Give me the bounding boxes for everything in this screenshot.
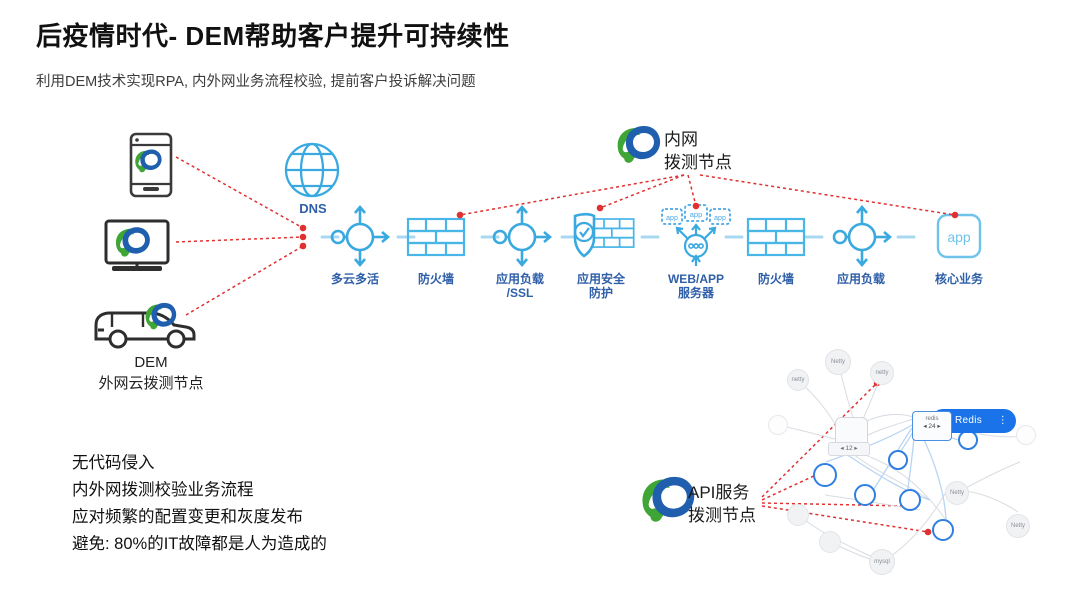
service-map-node[interactable]	[819, 531, 841, 553]
benefits-list: 无代码侵入 内外网拨测校验业务流程 应对频繁的配置变更和灰度发布 避免: 80%…	[72, 450, 327, 558]
api-probe-logo-icon	[642, 477, 694, 522]
car-icon	[96, 313, 194, 347]
chain-label-6: 应用负载	[806, 272, 916, 286]
service-map-node[interactable]: Netty	[825, 349, 851, 375]
slide-canvas: 后疫情时代- DEM帮助客户提升可持续性 利用DEM技术实现RPA, 内外网业务…	[0, 0, 1080, 601]
service-map-node-label: mysql	[870, 559, 894, 565]
firewall-brick-icon-1	[408, 219, 464, 255]
service-map-node[interactable]: Netty	[1006, 514, 1030, 538]
internal-probe-logo-icon	[618, 126, 660, 163]
svg-text:app: app	[666, 215, 678, 222]
service-map-node-label: Netty	[826, 359, 850, 365]
svg-text:app: app	[714, 215, 726, 222]
benefit-item-2: 应对频繁的配置变更和灰度发布	[72, 504, 327, 531]
dns-label: DNS	[268, 201, 358, 216]
load-balancer-icon-2	[834, 207, 890, 265]
redis-node-badge[interactable]: redis ◂ 24 ▸	[912, 411, 952, 441]
app-box-icon: app	[938, 215, 980, 257]
service-map-node[interactable]	[958, 430, 978, 450]
service-map-node[interactable]: netty	[787, 369, 809, 391]
service-topology-map[interactable]: NettynettynettyNettyNettymysql ◂ 12 ▸ Re…	[760, 330, 1080, 601]
chain-label-3: 应用安全 防护	[546, 272, 656, 300]
chain-label-7: 核心业务	[904, 272, 1014, 286]
redis-pill-label: Redis	[955, 415, 982, 426]
benefit-item-1: 内外网拨测校验业务流程	[72, 477, 327, 504]
redis-badge-name: redis	[913, 415, 951, 423]
dem-to-cloud-arrows	[176, 157, 303, 315]
service-map-node-label: Netty	[1007, 523, 1029, 529]
service-map-node[interactable]	[854, 484, 876, 506]
service-map-node[interactable]	[888, 450, 908, 470]
redis-badge-count: ◂ 24 ▸	[923, 423, 940, 430]
service-map-node[interactable]: netty	[870, 361, 894, 385]
benefit-item-0: 无代码侵入	[72, 450, 327, 477]
service-map-group-count[interactable]: ◂ 12 ▸	[828, 442, 870, 456]
service-map-node[interactable]: mysql	[869, 549, 895, 575]
service-map-node[interactable]	[932, 519, 954, 541]
svg-text:app: app	[947, 229, 971, 245]
internal-probe-label: 内网 拨测节点	[664, 128, 732, 174]
service-map-node-label: netty	[788, 377, 808, 383]
globe-icon	[286, 144, 338, 196]
kebab-menu-icon[interactable]: ⋮	[998, 409, 1008, 433]
service-map-node[interactable]	[899, 489, 921, 511]
service-map-node[interactable]	[768, 415, 788, 435]
firewall-brick-icon-2	[748, 219, 804, 255]
api-probe-label: API服务 拨测节点	[688, 481, 756, 527]
app-security-shield-icon	[575, 214, 634, 256]
dem-caption: DEM 外网云拨测节点	[61, 352, 241, 394]
svg-text:app: app	[690, 210, 703, 219]
service-map-node-label: netty	[871, 370, 893, 376]
service-map-node[interactable]	[787, 504, 809, 526]
benefit-item-3: 避免: 80%的IT故障都是人为造成的	[72, 531, 327, 558]
load-balancer-icon-1	[494, 207, 550, 265]
service-map-node[interactable]	[813, 463, 837, 487]
service-map-node[interactable]	[1016, 425, 1036, 445]
web-app-server-icon: app app app	[662, 205, 730, 266]
service-map-node-label: Netty	[946, 490, 968, 496]
service-map-node[interactable]: Netty	[945, 481, 969, 505]
